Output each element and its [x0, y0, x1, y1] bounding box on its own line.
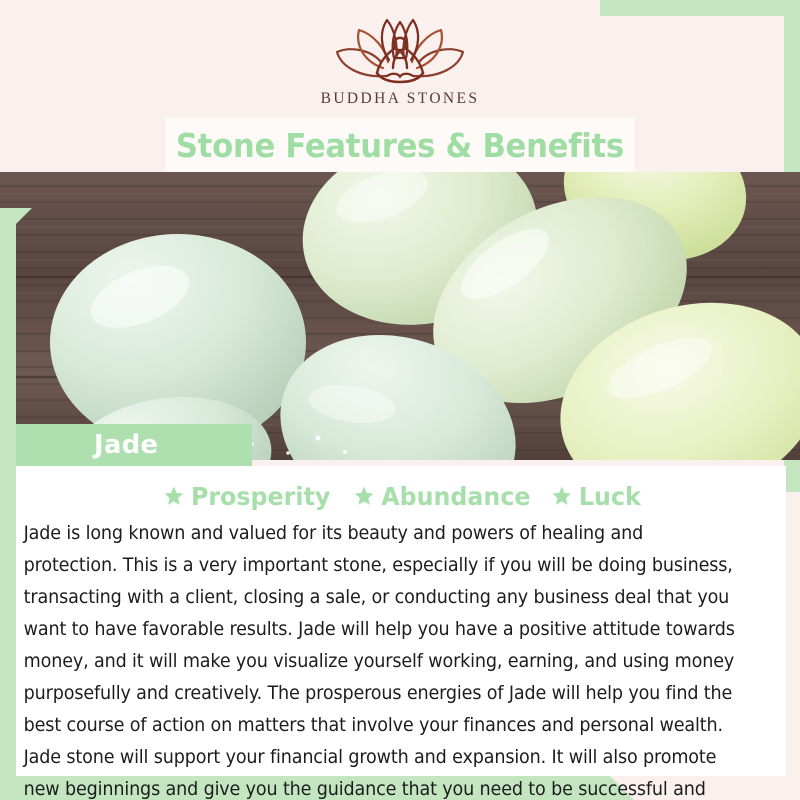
decor-left-notch	[16, 208, 32, 224]
stone-name-label: Jade	[94, 432, 158, 458]
star-icon	[551, 485, 572, 507]
stone-name-tag: Jade	[16, 424, 252, 466]
benefit-keyword: Luck	[551, 484, 640, 509]
benefit-keyword-label: Abundance	[381, 484, 530, 509]
lotus-meditation-figure-icon	[325, 16, 475, 88]
benefit-keyword-label: Luck	[579, 484, 641, 509]
star-icon	[353, 485, 374, 507]
stone-photo-illustration	[0, 172, 800, 460]
content-panel: Prosperity Abundance Luck Jade is long k…	[16, 466, 786, 776]
brand-name: BUDDHA STONES	[321, 90, 480, 108]
benefit-keyword: Prosperity	[163, 484, 330, 509]
infographic-page: BUDDHA STONES Stone Features & Benefits	[0, 0, 800, 800]
star-icon	[163, 485, 184, 507]
brand-header: BUDDHA STONES	[0, 16, 800, 116]
stone-photo	[0, 172, 800, 460]
benefit-keyword-label: Prosperity	[191, 484, 330, 509]
decor-left-band	[0, 208, 16, 784]
decor-right-notch	[768, 0, 784, 16]
benefit-keywords: Prosperity Abundance Luck	[16, 466, 786, 516]
page-title: Stone Features & Benefits	[176, 129, 624, 162]
stone-description: Jade is long known and valued for its be…	[16, 518, 751, 800]
title-banner: Stone Features & Benefits	[165, 118, 635, 172]
benefit-keyword: Abundance	[353, 484, 530, 509]
